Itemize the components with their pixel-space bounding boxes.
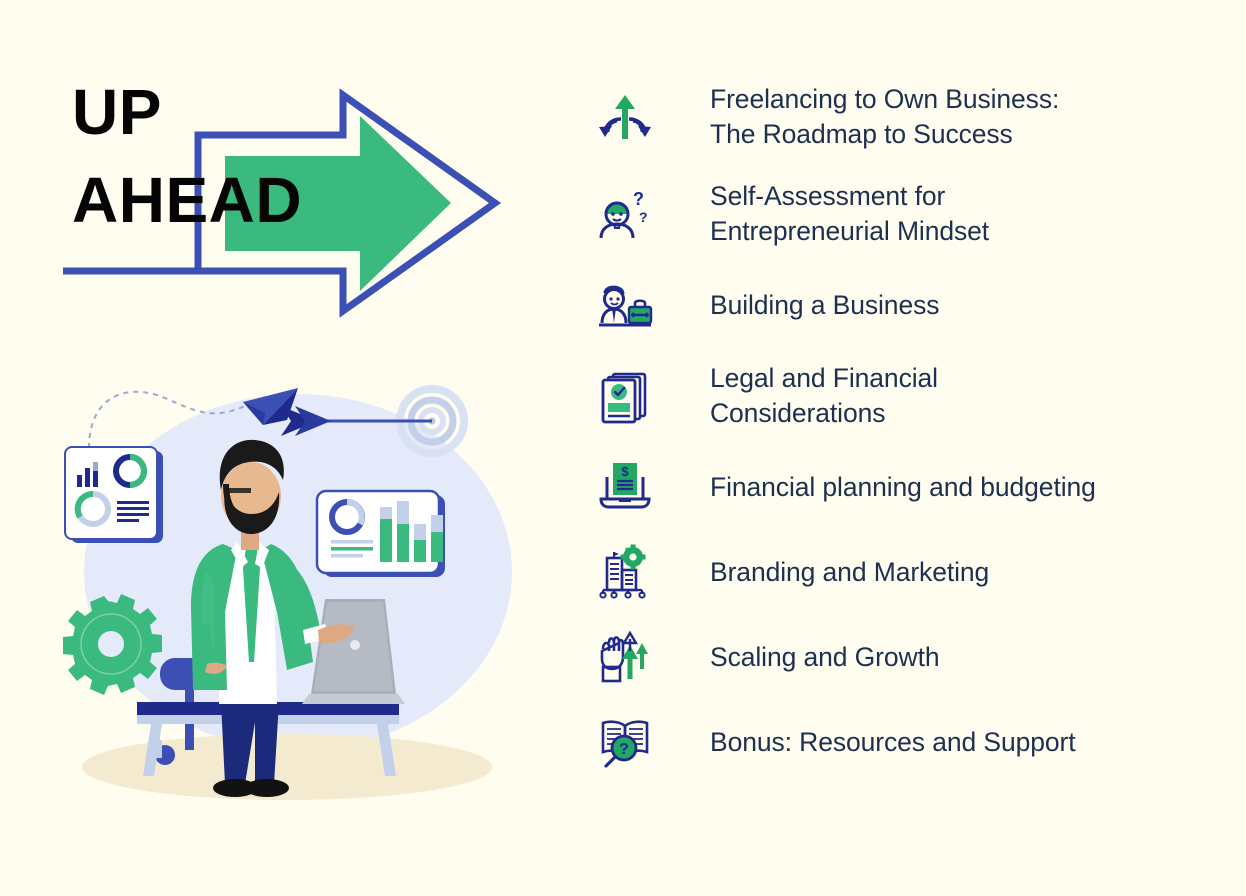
agenda-item-branding-marketing[interactable]: Branding and Marketing	[596, 543, 1216, 601]
agenda-item-label: Legal and Financial Considerations	[710, 361, 938, 431]
agenda-item-financial-planning[interactable]: $ Financial planning and budgeting	[596, 458, 1216, 516]
agenda-list: Freelancing to Own Business: The Roadmap…	[596, 82, 1216, 771]
page-title-line-1: UP	[72, 68, 372, 156]
person-question-marks-icon: ? ?	[596, 185, 654, 243]
laptop-dollar-document-icon: $	[596, 458, 654, 516]
agenda-item-label: Self-Assessment for Entrepreneurial Mind…	[710, 179, 989, 249]
businessman-at-desk-illustration	[55, 372, 530, 817]
svg-text:$: $	[621, 464, 629, 479]
agenda-item-label: Scaling and Growth	[710, 640, 939, 675]
agenda-item-label: Freelancing to Own Business: The Roadmap…	[710, 82, 1059, 152]
page-title-line-2: AHEAD	[72, 156, 372, 244]
agenda-item-label: Bonus: Resources and Support	[710, 725, 1075, 760]
slide-canvas: UP AHEAD	[0, 0, 1246, 896]
svg-text:?: ?	[633, 189, 644, 209]
documents-checkmark-icon	[596, 367, 654, 425]
left-panel: UP AHEAD	[0, 0, 560, 896]
chart-card-left	[65, 447, 163, 543]
chart-card-right	[317, 491, 445, 577]
agenda-item-label: Financial planning and budgeting	[710, 470, 1096, 505]
agenda-item-building-business[interactable]: Building a Business	[596, 276, 1216, 334]
agenda-item-self-assessment[interactable]: ? ? Self-Assessment for Entrepreneurial …	[596, 179, 1216, 249]
hand-up-arrows-icon	[596, 628, 654, 686]
businessman-briefcase-icon	[596, 276, 654, 334]
buildings-gear-icon	[596, 543, 654, 601]
agenda-item-label: Branding and Marketing	[710, 555, 989, 590]
agenda-item-freelancing[interactable]: Freelancing to Own Business: The Roadmap…	[596, 82, 1216, 152]
agenda-item-label: Building a Business	[710, 288, 939, 323]
agenda-item-legal-financial[interactable]: Legal and Financial Considerations	[596, 361, 1216, 431]
branching-arrows-icon	[596, 88, 654, 146]
book-magnifier-question-icon: ?	[596, 713, 654, 771]
agenda-item-bonus-resources[interactable]: ? Bonus: Resources and Support	[596, 713, 1216, 771]
svg-text:?: ?	[639, 209, 648, 225]
page-title: UP AHEAD	[72, 68, 372, 244]
agenda-item-scaling-growth[interactable]: Scaling and Growth	[596, 628, 1216, 686]
svg-text:?: ?	[619, 741, 629, 758]
